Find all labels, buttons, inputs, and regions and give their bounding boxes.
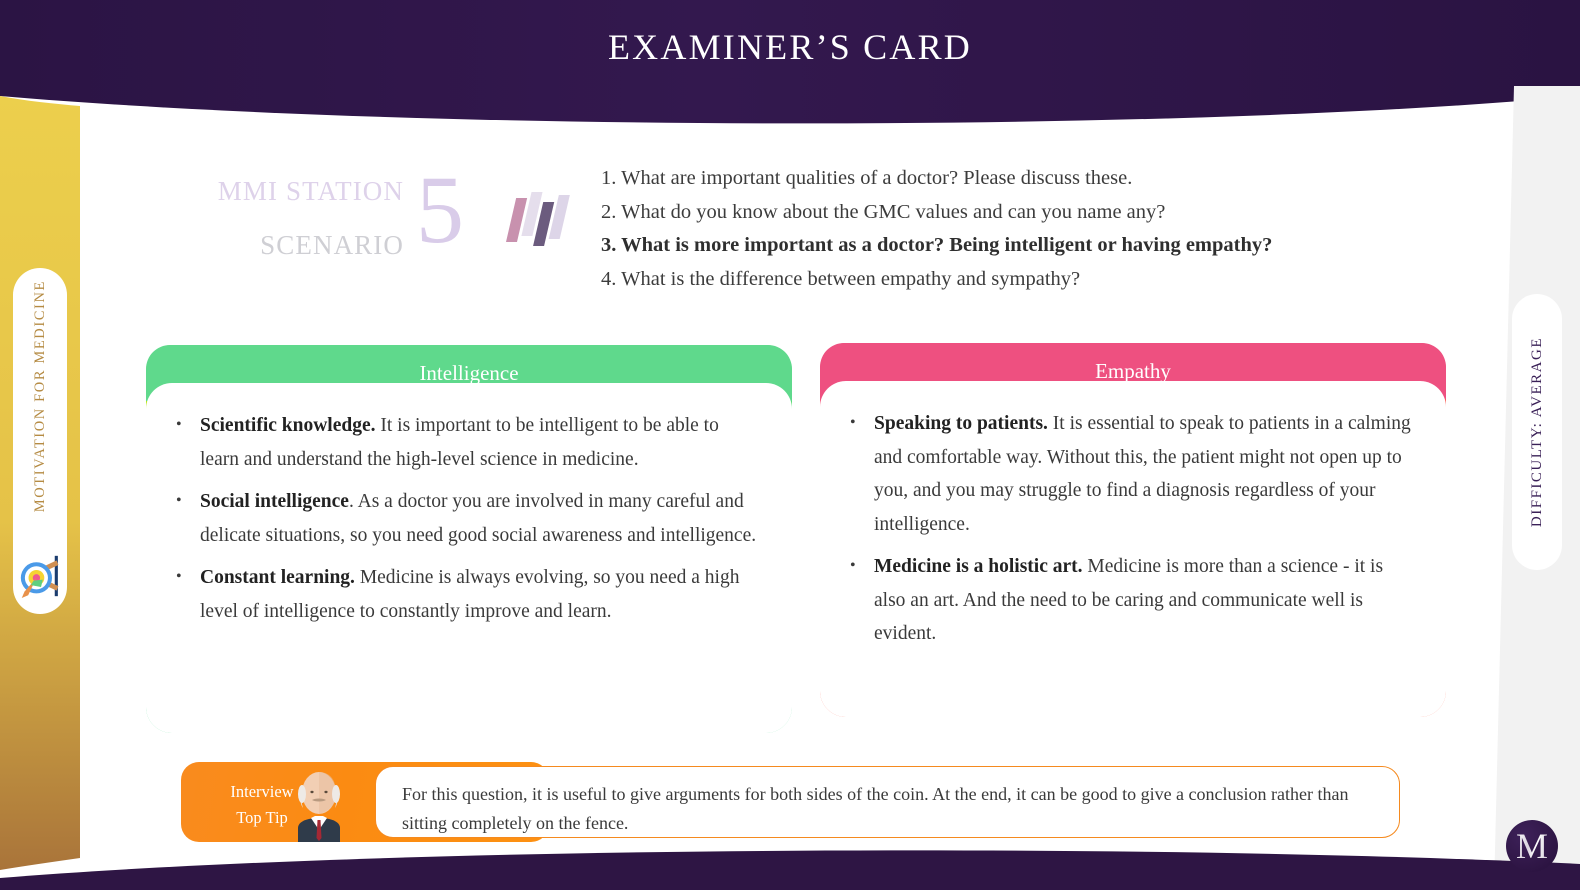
list-item: Social intelligence. As a doctor you are… [170,485,762,552]
left-rail-label: MOTIVATION FOR MEDICINE [32,280,49,512]
difficulty-label: DIFFICULTY: AVERAGE [1529,337,1546,527]
list-item: Constant learning. Medicine is always ev… [170,561,762,628]
point-lead: Scientific knowledge. [200,415,376,436]
brand-logo[interactable]: M [1506,820,1558,872]
point-lead: Medicine is a holistic art. [874,556,1083,577]
older-man-avatar [286,768,352,842]
scenario-label: SCENARIO [176,230,404,261]
empathy-panel: Empathy Speaking to patients. It is esse… [820,343,1446,717]
header-curve-shape [0,0,1580,160]
empathy-panel-body: Speaking to patients. It is essential to… [820,381,1446,717]
brand-logo-letter: M [1516,828,1548,864]
question-item: 2. What do you know about the GMC values… [601,196,1431,230]
scenario-number: 5 [416,162,464,258]
list-item: Speaking to patients. It is essential to… [844,407,1416,541]
examiner-card-slide: EXAMINER’S CARD MOTIVATION FOR MEDICINE [0,0,1580,890]
question-item: 1. What are important qualities of a doc… [601,162,1431,196]
tip-text-box: For this question, it is useful to give … [375,766,1400,838]
list-item: Scientific knowledge. It is important to… [170,409,762,476]
scenario-mark: MMI STATION SCENARIO 5 [176,176,576,286]
question-item: 3. What is more important as a doctor? B… [601,229,1431,263]
point-lead: Social intelligence [200,491,349,512]
point-lead: Speaking to patients. [874,413,1048,434]
list-item: Medicine is a holistic art. Medicine is … [844,550,1416,651]
page-title: EXAMINER’S CARD [0,26,1580,68]
target-icon [19,552,63,600]
question-list: 1. What are important qualities of a doc… [601,162,1431,296]
motivation-pill: MOTIVATION FOR MEDICINE [13,268,67,614]
intelligence-panel-body: Scientific knowledge. It is important to… [146,383,792,733]
point-lead: Constant learning. [200,567,355,588]
intelligence-panel: Intelligence Scientific knowledge. It is… [146,345,792,733]
right-rail: DIFFICULTY: AVERAGE [1488,86,1580,890]
interview-top-tip: Interview Top Tip For this question, it … [181,762,1400,842]
difficulty-pill: DIFFICULTY: AVERAGE [1512,294,1562,570]
question-item: 4. What is the difference between empath… [601,263,1431,297]
tip-text: For this question, it is useful to give … [402,780,1379,837]
bars-icon [506,190,576,252]
mmi-station-label: MMI STATION [176,176,404,207]
header-band: EXAMINER’S CARD [0,0,1580,160]
left-rail: MOTIVATION FOR MEDICINE [0,80,92,890]
